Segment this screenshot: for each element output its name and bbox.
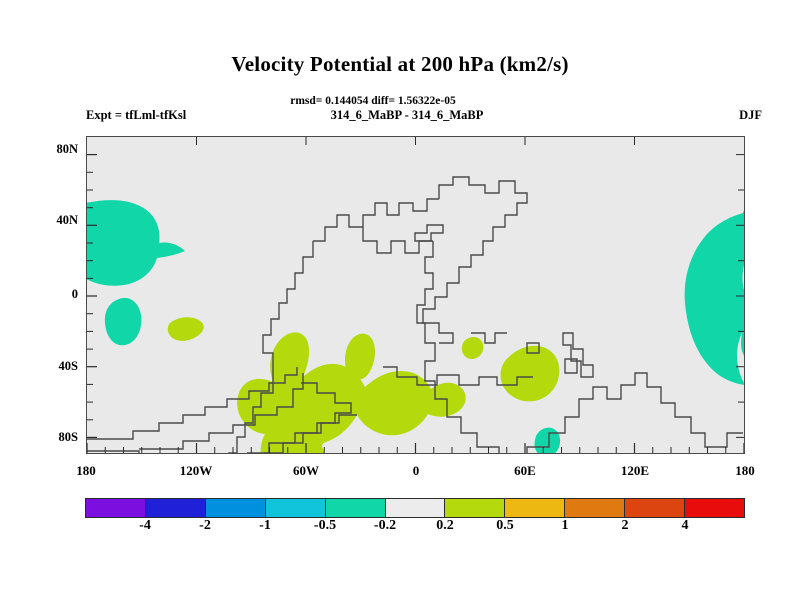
- page-title: Velocity Potential at 200 hPa (km2/s): [0, 52, 800, 77]
- colorbar-tick-label: 1: [562, 519, 569, 533]
- y-axis-tick-label: 40S: [34, 360, 78, 373]
- x-axis-tick-label: 180: [735, 464, 755, 477]
- colorbar-tick-label: 2: [622, 519, 629, 533]
- colorbar-swatch: [326, 499, 386, 517]
- y-axis-tick-label: 80S: [34, 431, 78, 444]
- colorbar-tick-label: -1: [259, 519, 271, 533]
- colorbar-swatch: [266, 499, 326, 517]
- map-contour-canvas: [87, 137, 744, 453]
- colorbar-swatch: [445, 499, 505, 517]
- colorbar-tick-label: -0.5: [314, 519, 336, 533]
- colorbar-swatch: [386, 499, 446, 517]
- colorbar-tick-label: -2: [199, 519, 211, 533]
- colorbar-swatch: [625, 499, 685, 517]
- case-comparison-label: 314_6_MaBP - 314_6_MaBP: [0, 108, 800, 123]
- x-axis-tick-label: 0: [413, 464, 420, 477]
- colorbar-tick-label: -4: [139, 519, 151, 533]
- colorbar-swatch: [206, 499, 266, 517]
- x-axis-tick-label: 60E: [514, 464, 536, 477]
- x-axis-tick-label: 180: [76, 464, 96, 477]
- x-axis-tick-label: 60W: [293, 464, 319, 477]
- climate-map-figure: Velocity Potential at 200 hPa (km2/s) rm…: [0, 0, 800, 600]
- colorbar-tick-label: -0.2: [374, 519, 396, 533]
- colorbar-swatch: [505, 499, 565, 517]
- y-axis-tick-label: 0: [34, 288, 78, 301]
- colorbar-swatch: [86, 499, 146, 517]
- colorbar-swatch: [565, 499, 625, 517]
- map-plot-area: [86, 136, 745, 454]
- statistics-label: rmsd= 0.144054 diff= 1.56322e-05: [0, 95, 800, 107]
- x-axis-tick-label: 120E: [621, 464, 649, 477]
- season-label: DJF: [739, 108, 762, 123]
- y-axis-tick-label: 40N: [34, 214, 78, 227]
- colorbar-tick-label: 0.5: [496, 519, 514, 533]
- colorbar-swatch: [685, 499, 744, 517]
- colorbar-swatch: [146, 499, 206, 517]
- colorbar-tick-label: 4: [682, 519, 689, 533]
- x-axis-tick-label: 120W: [180, 464, 213, 477]
- y-axis-tick-label: 80N: [34, 143, 78, 156]
- colorbar: [85, 498, 745, 518]
- colorbar-tick-label: 0.2: [436, 519, 454, 533]
